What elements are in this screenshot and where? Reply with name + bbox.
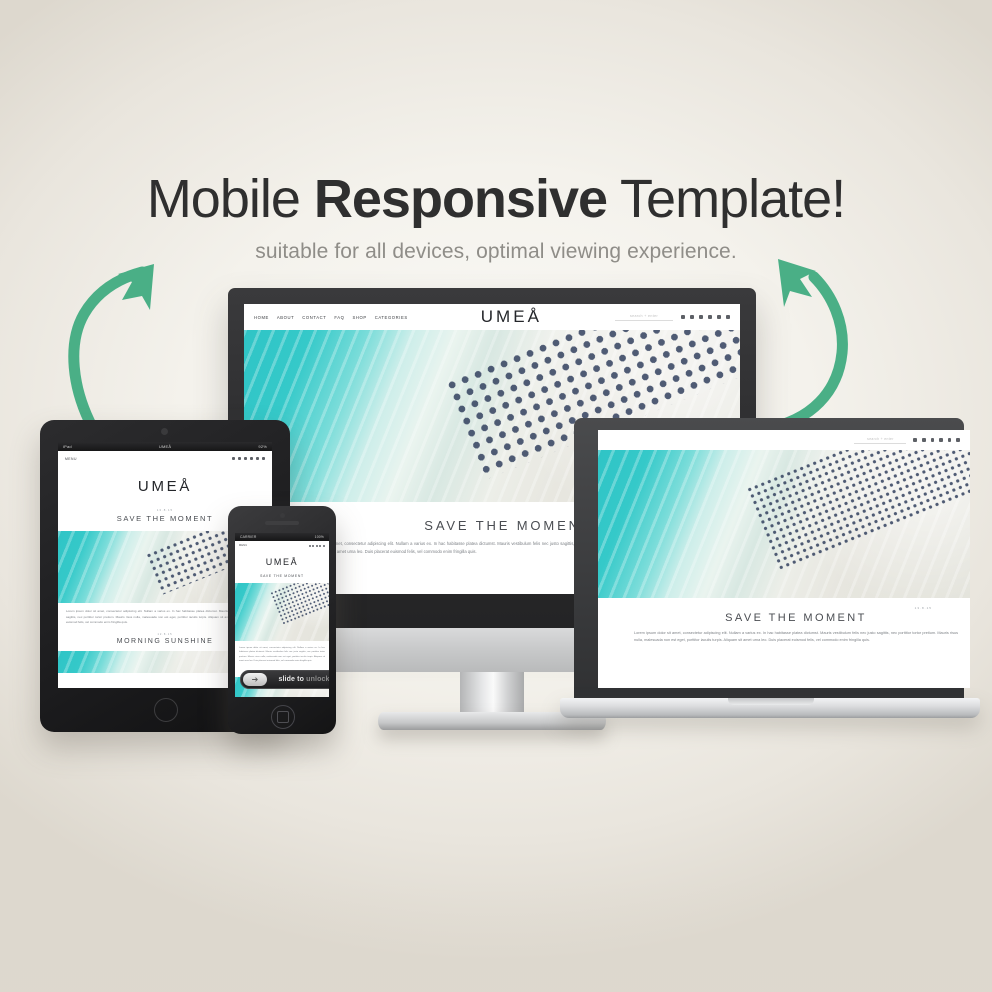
social-links-tablet[interactable] [232, 457, 265, 460]
slide-label-bold: slide to [278, 676, 306, 683]
site-logo-phone[interactable]: UMEÅ [235, 557, 329, 567]
hero-image-beach-phone [235, 583, 329, 641]
smartphone: CARRIER 100% MENU UMEÅ [228, 506, 336, 734]
rss-icon[interactable] [913, 438, 917, 442]
twitter-icon[interactable] [726, 315, 730, 319]
curved-arrow-right-icon [756, 243, 876, 433]
facebook-icon[interactable] [690, 315, 694, 319]
article-title: SAVE THE MOMENT [634, 612, 958, 624]
tumblr-icon[interactable] [948, 438, 952, 442]
tumblr-icon[interactable] [717, 315, 721, 319]
rss-icon[interactable] [232, 457, 235, 460]
laptop: search + enter [560, 418, 980, 730]
social-links-laptop[interactable] [913, 438, 960, 442]
facebook-icon[interactable] [922, 438, 926, 442]
beach-umbrellas [270, 583, 329, 625]
beach-umbrellas [745, 450, 970, 573]
status-carrier: iPad [63, 444, 72, 449]
floor-reflection [0, 882, 992, 992]
headline-part-1: Mobile [147, 169, 314, 229]
twitter-icon[interactable] [323, 545, 325, 547]
site-logo-tablet[interactable]: UMEÅ [58, 478, 272, 495]
tumblr-icon[interactable] [256, 457, 259, 460]
twitter-icon[interactable] [956, 438, 960, 442]
nav-item-categories[interactable]: CATEGORIES [375, 315, 408, 320]
nav-item-home[interactable]: HOME [254, 315, 269, 320]
email-icon[interactable] [708, 315, 712, 319]
hero-image-beach-laptop [598, 450, 970, 598]
instagram-icon[interactable] [931, 438, 935, 442]
facebook-icon[interactable] [312, 545, 314, 547]
menu-button-phone[interactable]: MENU [239, 544, 247, 547]
nav-item-about[interactable]: ABOUT [277, 315, 294, 320]
curved-arrow-left-icon [58, 238, 188, 438]
article-save-the-moment-laptop: 13.8.15 SAVE THE MOMENT Lorem ipsum dolo… [598, 598, 970, 644]
laptop-trackpad-notch [728, 698, 814, 705]
nav-item-faq[interactable]: FAQ [334, 315, 344, 320]
slide-label-dim: unlock [306, 676, 329, 683]
email-icon[interactable] [319, 545, 321, 547]
social-links[interactable] [681, 315, 730, 319]
tablet-status-bar: iPad UMEÅ 92% [58, 442, 272, 451]
article-title-phone: SAVE THE MOMENT [235, 574, 329, 578]
phone-camera-icon [280, 513, 285, 518]
rss-icon[interactable] [309, 545, 311, 547]
social-links-phone[interactable] [309, 545, 325, 547]
main-nav[interactable]: HOME ABOUT CONTACT FAQ SHOP CATEGORIES [254, 315, 408, 320]
article-body-phone: Lorem ipsum dolor sit amet, consectetur … [239, 646, 325, 664]
status-battery: 100% [315, 535, 324, 539]
status-title: UMEÅ [159, 444, 171, 449]
rss-icon[interactable] [681, 315, 685, 319]
website-laptop-view: search + enter [598, 430, 970, 688]
nav-item-shop[interactable]: SHOP [353, 315, 367, 320]
phone-status-bar: CARRIER 100% [235, 533, 329, 541]
article-body: Lorem ipsum dolor sit amet, consectetur … [634, 630, 958, 644]
slide-to-unlock-label: slide to unlock [267, 676, 329, 683]
twitter-icon[interactable] [262, 457, 265, 460]
search-input-laptop[interactable]: search + enter [854, 437, 906, 444]
laptop-screen: search + enter [598, 430, 970, 688]
email-icon[interactable] [250, 457, 253, 460]
article-date: 13.8.15 [634, 606, 958, 610]
laptop-lid: search + enter [574, 418, 964, 698]
slide-arrow-icon[interactable]: ➔ [243, 673, 267, 686]
status-battery: 92% [258, 444, 267, 449]
menu-button[interactable]: MENU [65, 457, 77, 461]
site-logo[interactable]: UMEÅ [408, 307, 615, 327]
poster-canvas: Mobile Responsive Template! suitable for… [0, 0, 992, 992]
email-icon[interactable] [939, 438, 943, 442]
headline-emphasis: Responsive [314, 169, 607, 229]
phone-home-square-icon [277, 711, 289, 723]
phone-speaker [265, 521, 299, 525]
status-carrier: CARRIER [240, 535, 256, 539]
phone-body: CARRIER 100% MENU UMEÅ [228, 506, 336, 734]
headline-part-2: Template! [607, 169, 845, 229]
tablet-camera-icon [161, 428, 168, 435]
phone-screen: CARRIER 100% MENU UMEÅ [235, 533, 329, 697]
nav-item-contact[interactable]: CONTACT [302, 315, 326, 320]
slide-to-unlock-slider[interactable]: ➔ slide to unlock [240, 670, 329, 689]
search-input[interactable]: search + enter [615, 314, 673, 321]
page-title: Mobile Responsive Template! [0, 172, 992, 226]
instagram-icon[interactable] [316, 545, 318, 547]
tablet-home-button[interactable] [154, 698, 178, 722]
instagram-icon[interactable] [699, 315, 703, 319]
instagram-icon[interactable] [244, 457, 247, 460]
facebook-icon[interactable] [238, 457, 241, 460]
